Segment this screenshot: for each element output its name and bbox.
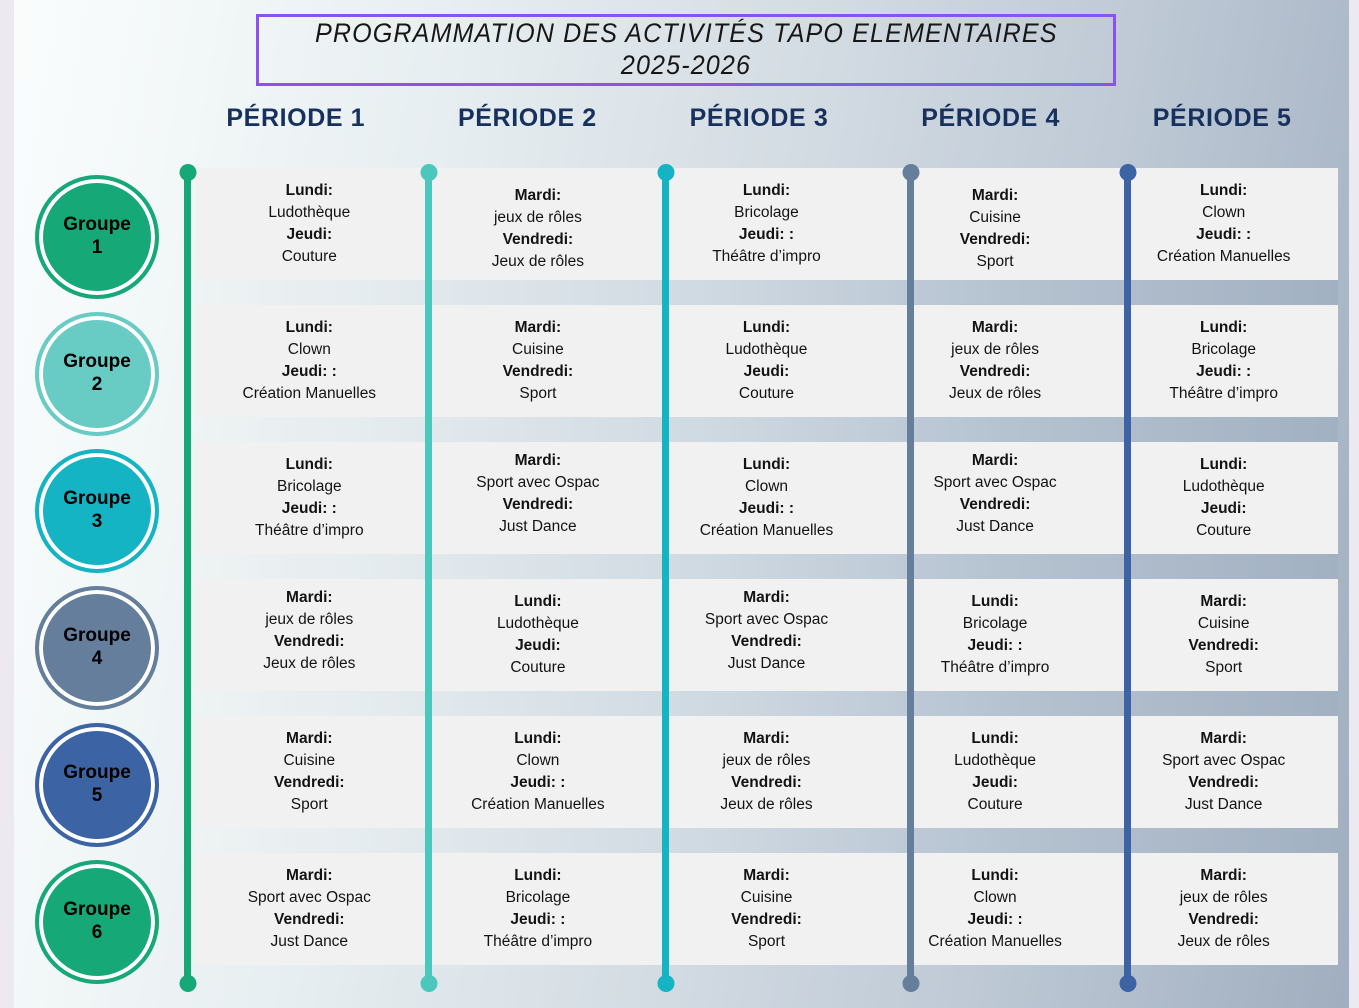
schedule-cell[interactable]: Lundi:LudothèqueJeudi:Couture (424, 579, 653, 691)
schedule-cell[interactable]: Mardi:Sport avec OspacVendredi:Just Danc… (424, 438, 653, 550)
schedule-day-label: Lundi: (286, 180, 333, 202)
schedule-day-label: Lundi: (1200, 454, 1247, 476)
schedule-row: Mardi:Sport avec OspacVendredi:Just Danc… (195, 853, 1338, 965)
timeline-rail-dot-bottom (657, 975, 674, 992)
schedule-activity: Couture (739, 383, 794, 405)
group-label: Groupe (63, 899, 131, 921)
schedule-activity: Sport (291, 794, 328, 816)
period-header-1: PÉRIODE 1 (180, 104, 412, 160)
schedule-grid: Lundi:LudothèqueJeudi:CoutureMardi:jeux … (195, 168, 1338, 965)
schedule-day-label: Mardi: (743, 587, 790, 609)
timeline-rail-period-1 (184, 168, 191, 988)
row-separator-band (195, 691, 1338, 716)
schedule-day-label: Lundi: (971, 728, 1018, 750)
schedule-day-label: Vendredi: (960, 494, 1031, 516)
schedule-day-label: Jeudi: : (968, 635, 1023, 657)
schedule-cell[interactable]: Mardi:jeux de rôlesVendredi:Jeux de rôle… (1109, 853, 1338, 965)
schedule-day-label: Jeudi: : (968, 909, 1023, 931)
schedule-day-label: Lundi: (514, 591, 561, 613)
schedule-day-label: Vendredi: (274, 909, 345, 931)
schedule-activity: Clown (1202, 202, 1245, 224)
schedule-activity: Just Dance (728, 653, 806, 675)
schedule-day-label: Lundi: (971, 591, 1018, 613)
schedule-row: Mardi:CuisineVendredi:SportLundi:ClownJe… (195, 716, 1338, 828)
schedule-row: Mardi:jeux de rôlesVendredi:Jeux de rôle… (195, 579, 1338, 691)
schedule-day-label: Jeudi: : (282, 361, 337, 383)
schedule-day-label: Jeudi: : (510, 909, 565, 931)
group-bubble-column: Groupe1Groupe2Groupe3Groupe4Groupe5Group… (22, 168, 172, 990)
schedule-cell[interactable]: Lundi:BricolageJeudi: :Théâtre d’impro (881, 579, 1110, 691)
schedule-cell[interactable]: Mardi:jeux de rôlesVendredi:Jeux de rôle… (424, 173, 653, 285)
group-label: Groupe (63, 351, 131, 373)
schedule-day-label: Vendredi: (1188, 909, 1259, 931)
schedule-activity: Bricolage (963, 613, 1028, 635)
schedule-activity: Just Dance (271, 931, 349, 953)
group-label: Groupe (63, 762, 131, 784)
schedule-cell[interactable]: Mardi:CuisineVendredi:Sport (881, 173, 1110, 285)
schedule-activity: Jeux de rôles (263, 653, 355, 675)
schedule-cell[interactable]: Mardi:Sport avec OspacVendredi:Just Danc… (195, 853, 424, 965)
schedule-row: Lundi:LudothèqueJeudi:CoutureMardi:jeux … (195, 168, 1338, 280)
schedule-activity: Jeux de rôles (492, 251, 584, 273)
group-number: 3 (92, 511, 103, 533)
schedule-cell[interactable]: Mardi:CuisineVendredi:Sport (195, 716, 424, 828)
schedule-day-label: Jeudi: : (1196, 224, 1251, 246)
group-slot: Groupe5 (22, 716, 172, 853)
poster-title-box: PROGRAMMATION DES ACTIVITÉS TAPO ELEMENT… (256, 14, 1116, 86)
period-header-4: PÉRIODE 4 (875, 104, 1107, 160)
schedule-activity: Bricolage (277, 476, 342, 498)
timeline-rail-dot-bottom (902, 975, 919, 992)
schedule-activity: Théâtre d’impro (255, 520, 364, 542)
schedule-activity: Création Manuelles (471, 794, 605, 816)
group-bubble-2[interactable]: Groupe2 (35, 312, 159, 436)
schedule-day-label: Jeudi: : (510, 772, 565, 794)
schedule-cell[interactable]: Lundi:BricolageJeudi: :Théâtre d’impro (195, 442, 424, 554)
schedule-activity: Jeux de rôles (720, 794, 812, 816)
row-separator-band (195, 417, 1338, 442)
schedule-cell[interactable]: Mardi:Sport avec OspacVendredi:Just Danc… (1109, 716, 1338, 828)
schedule-day-label: Mardi: (286, 865, 333, 887)
schedule-day-label: Jeudi: : (1196, 361, 1251, 383)
schedule-activity: Just Dance (956, 516, 1034, 538)
group-bubble-4[interactable]: Groupe4 (35, 586, 159, 710)
schedule-day-label: Mardi: (515, 185, 562, 207)
schedule-day-label: Jeudi: (744, 361, 790, 383)
schedule-activity: Théâtre d’impro (1169, 383, 1278, 405)
schedule-activity: Cuisine (1198, 613, 1250, 635)
schedule-cell[interactable]: Mardi:CuisineVendredi:Sport (652, 853, 881, 965)
schedule-activity: jeux de rôles (723, 750, 811, 772)
group-slot: Groupe1 (22, 168, 172, 305)
schedule-day-label: Mardi: (972, 185, 1019, 207)
schedule-day-label: Mardi: (515, 317, 562, 339)
schedule-activity: Cuisine (283, 750, 335, 772)
schedule-activity: Cuisine (512, 339, 564, 361)
schedule-cell[interactable]: Lundi:BricolageJeudi: :Théâtre d’impro (424, 853, 653, 965)
schedule-activity: Théâtre d’impro (941, 657, 1050, 679)
timeline-rail-dot-top (179, 164, 196, 181)
timeline-rail-dot-bottom (1119, 975, 1136, 992)
schedule-activity: Ludothèque (1183, 476, 1265, 498)
schedule-activity: jeux de rôles (951, 339, 1039, 361)
schedule-cell[interactable]: Lundi:ClownJeudi: :Création Manuelles (1109, 168, 1338, 280)
schedule-activity: Clown (288, 339, 331, 361)
schedule-cell[interactable]: Mardi:jeux de rôlesVendredi:Jeux de rôle… (652, 716, 881, 828)
schedule-day-label: Lundi: (286, 454, 333, 476)
schedule-cell[interactable]: Lundi:ClownJeudi: :Création Manuelles (195, 305, 424, 417)
schedule-day-label: Vendredi: (1188, 772, 1259, 794)
group-slot: Groupe3 (22, 442, 172, 579)
group-label: Groupe (63, 625, 131, 647)
schedule-activity: Bricolage (734, 202, 799, 224)
schedule-day-label: Vendredi: (274, 631, 345, 653)
schedule-cell[interactable]: Lundi:ClownJeudi: :Création Manuelles (652, 442, 881, 554)
schedule-activity: Création Manuelles (1157, 246, 1291, 268)
schedule-day-label: Vendredi: (731, 909, 802, 931)
schedule-activity: jeux de rôles (265, 609, 353, 631)
group-number: 6 (92, 922, 103, 944)
schedule-day-label: Lundi: (514, 865, 561, 887)
schedule-day-label: Jeudi: : (739, 498, 794, 520)
schedule-day-label: Mardi: (286, 587, 333, 609)
group-label: Groupe (63, 488, 131, 510)
group-bubble-1[interactable]: Groupe1 (35, 175, 159, 299)
schedule-activity: Clown (516, 750, 559, 772)
schedule-activity: jeux de rôles (494, 207, 582, 229)
schedule-day-label: Mardi: (515, 450, 562, 472)
schedule-day-label: Vendredi: (274, 772, 345, 794)
schedule-day-label: Jeudi: (515, 635, 561, 657)
schedule-cell[interactable]: Lundi:LudothèqueJeudi:Couture (881, 716, 1110, 828)
schedule-activity: Couture (282, 246, 337, 268)
group-slot: Groupe4 (22, 579, 172, 716)
schedule-activity: Clown (974, 887, 1017, 909)
schedule-activity: Création Manuelles (243, 383, 377, 405)
schedule-day-label: Mardi: (743, 865, 790, 887)
schedule-day-label: Lundi: (286, 317, 333, 339)
schedule-row: Lundi:BricolageJeudi: :Théâtre d’improMa… (195, 442, 1338, 554)
poster-title-line-1: PROGRAMMATION DES ACTIVITÉS TAPO ELEMENT… (315, 18, 1058, 50)
schedule-day-label: Lundi: (743, 454, 790, 476)
schedule-activity: Clown (745, 476, 788, 498)
schedule-day-label: Jeudi: (972, 772, 1018, 794)
schedule-cell[interactable]: Mardi:Sport avec OspacVendredi:Just Danc… (652, 575, 881, 687)
schedule-day-label: Lundi: (743, 180, 790, 202)
schedule-activity: Jeux de rôles (949, 383, 1041, 405)
schedule-day-label: Vendredi: (1188, 635, 1259, 657)
schedule-cell[interactable]: Mardi:Sport avec OspacVendredi:Just Danc… (881, 438, 1110, 550)
schedule-activity: Sport (519, 383, 556, 405)
schedule-activity: Sport avec Ospac (705, 609, 828, 631)
schedule-activity: Cuisine (969, 207, 1021, 229)
schedule-day-label: Lundi: (971, 865, 1018, 887)
schedule-day-label: Vendredi: (503, 361, 574, 383)
schedule-cell[interactable]: Mardi:CuisineVendredi:Sport (424, 305, 653, 417)
schedule-activity: Création Manuelles (928, 931, 1062, 953)
schedule-day-label: Vendredi: (503, 494, 574, 516)
schedule-day-label: Lundi: (1200, 317, 1247, 339)
schedule-activity: Sport avec Ospac (476, 472, 599, 494)
schedule-row: Lundi:ClownJeudi: :Création ManuellesMar… (195, 305, 1338, 417)
schedule-day-label: Lundi: (514, 728, 561, 750)
period-header-row: PÉRIODE 1 PÉRIODE 2 PÉRIODE 3 PÉRIODE 4 … (180, 104, 1338, 160)
activity-programme-poster: PROGRAMMATION DES ACTIVITÉS TAPO ELEMENT… (0, 0, 1359, 1008)
schedule-day-label: Mardi: (743, 728, 790, 750)
group-slot: Groupe2 (22, 305, 172, 442)
group-bubble-3[interactable]: Groupe3 (35, 449, 159, 573)
schedule-day-label: Vendredi: (960, 361, 1031, 383)
schedule-day-label: Mardi: (1200, 728, 1247, 750)
schedule-activity: Sport (748, 931, 785, 953)
period-header-2: PÉRIODE 2 (412, 104, 644, 160)
schedule-day-label: Vendredi: (503, 229, 574, 251)
group-number: 2 (92, 374, 103, 396)
timeline-rail-dot-bottom (420, 975, 437, 992)
schedule-day-label: Mardi: (972, 317, 1019, 339)
schedule-activity: Bricolage (1191, 339, 1256, 361)
group-bubble-6[interactable]: Groupe6 (35, 860, 159, 984)
schedule-cell[interactable]: Lundi:LudothèqueJeudi:Couture (652, 305, 881, 417)
schedule-day-label: Lundi: (1200, 180, 1247, 202)
schedule-day-label: Mardi: (972, 450, 1019, 472)
group-slot: Groupe6 (22, 853, 172, 990)
schedule-cell[interactable]: Mardi:jeux de rôlesVendredi:Jeux de rôle… (195, 575, 424, 687)
group-number: 5 (92, 785, 103, 807)
schedule-cell[interactable]: Mardi:CuisineVendredi:Sport (1109, 579, 1338, 691)
schedule-cell[interactable]: Mardi:jeux de rôlesVendredi:Jeux de rôle… (881, 305, 1110, 417)
schedule-activity: Sport (1205, 657, 1242, 679)
schedule-activity: Couture (968, 794, 1023, 816)
schedule-day-label: Jeudi: (1201, 498, 1247, 520)
schedule-activity: Ludothèque (497, 613, 579, 635)
schedule-day-label: Jeudi: : (739, 224, 794, 246)
schedule-cell[interactable]: Lundi:BricolageJeudi: :Théâtre d’impro (1109, 305, 1338, 417)
schedule-activity: Sport avec Ospac (248, 887, 371, 909)
timeline-rail-dot-bottom (179, 975, 196, 992)
schedule-day-label: Jeudi: : (282, 498, 337, 520)
schedule-activity: Sport (977, 251, 1014, 273)
schedule-activity: Création Manuelles (700, 520, 834, 542)
poster-title-line-2: 2025-2026 (621, 50, 751, 82)
schedule-activity: Ludothèque (726, 339, 808, 361)
schedule-day-label: Jeudi: (286, 224, 332, 246)
schedule-day-label: Vendredi: (731, 631, 802, 653)
schedule-activity: Ludothèque (268, 202, 350, 224)
schedule-day-label: Mardi: (286, 728, 333, 750)
group-number: 1 (92, 237, 103, 259)
schedule-activity: Ludothèque (954, 750, 1036, 772)
period-header-5: PÉRIODE 5 (1106, 104, 1338, 160)
schedule-activity: Jeux de rôles (1178, 931, 1270, 953)
schedule-cell[interactable]: Lundi:LudothèqueJeudi:Couture (1109, 442, 1338, 554)
schedule-activity: Couture (510, 657, 565, 679)
group-label: Groupe (63, 214, 131, 236)
schedule-day-label: Vendredi: (960, 229, 1031, 251)
row-separator-band (195, 280, 1338, 305)
schedule-activity: Just Dance (499, 516, 577, 538)
schedule-activity: Sport avec Ospac (933, 472, 1056, 494)
schedule-activity: Couture (1196, 520, 1251, 542)
schedule-day-label: Vendredi: (731, 772, 802, 794)
schedule-day-label: Mardi: (1200, 865, 1247, 887)
schedule-activity: Sport avec Ospac (1162, 750, 1285, 772)
group-bubble-5[interactable]: Groupe5 (35, 723, 159, 847)
schedule-day-label: Mardi: (1200, 591, 1247, 613)
schedule-activity: Cuisine (741, 887, 793, 909)
schedule-activity: Just Dance (1185, 794, 1263, 816)
group-number: 4 (92, 648, 103, 670)
schedule-activity: jeux de rôles (1180, 887, 1268, 909)
schedule-cell[interactable]: Lundi:BricolageJeudi: :Théâtre d’impro (652, 168, 881, 280)
schedule-activity: Bricolage (506, 887, 571, 909)
row-separator-band (195, 828, 1338, 853)
schedule-activity: Théâtre d’impro (484, 931, 593, 953)
schedule-day-label: Lundi: (743, 317, 790, 339)
schedule-cell[interactable]: Lundi:ClownJeudi: :Création Manuelles (881, 853, 1110, 965)
schedule-cell[interactable]: Lundi:ClownJeudi: :Création Manuelles (424, 716, 653, 828)
schedule-cell[interactable]: Lundi:LudothèqueJeudi:Couture (195, 168, 424, 280)
schedule-activity: Théâtre d’impro (712, 246, 821, 268)
period-header-3: PÉRIODE 3 (643, 104, 875, 160)
